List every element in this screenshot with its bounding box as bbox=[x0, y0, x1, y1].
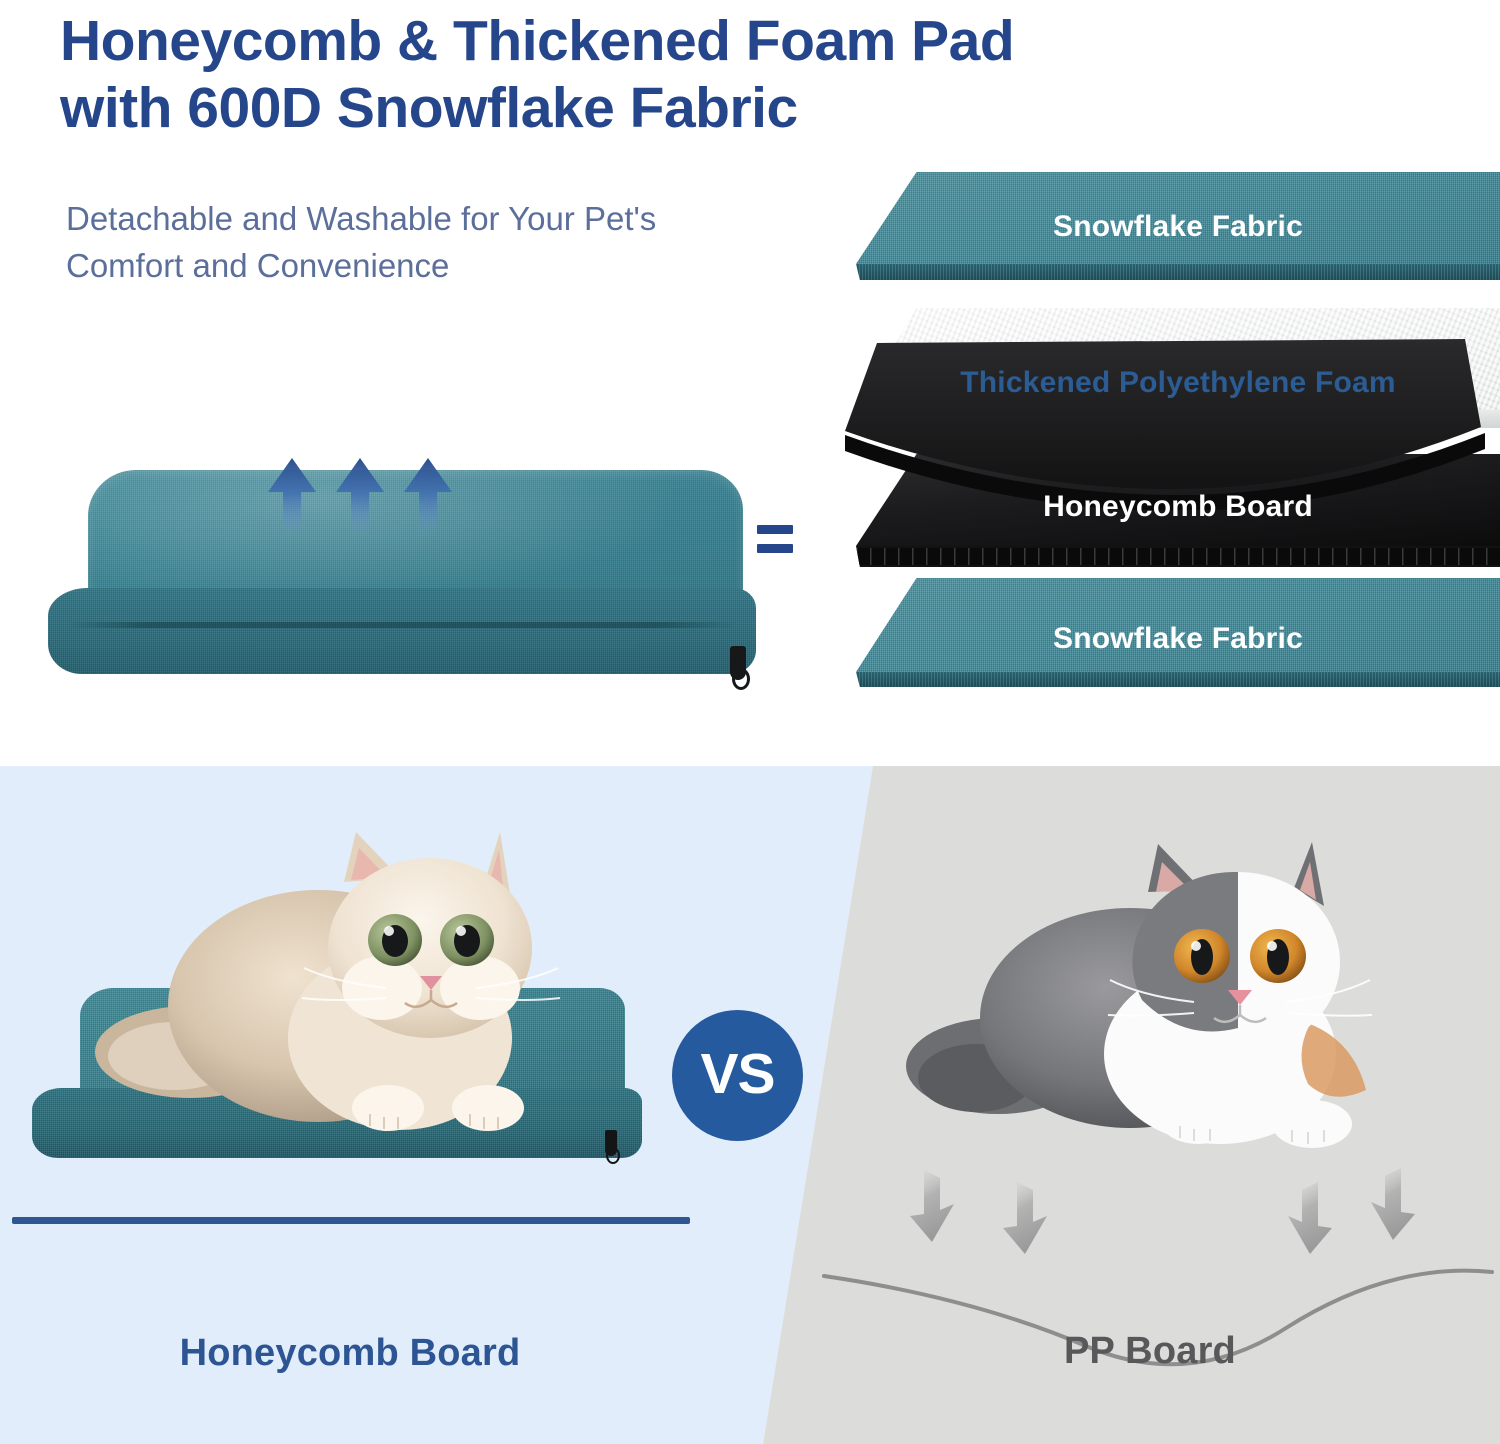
layer-edge bbox=[856, 672, 1500, 687]
equals-bar-bottom bbox=[757, 544, 793, 553]
layer-label-polyethylene-foam: Thickened Polyethylene Foam bbox=[856, 366, 1500, 400]
cat-on-honeycomb-pad-image bbox=[70, 820, 630, 1140]
product-infographic: Honeycomb & Thickened Foam Pad with 600D… bbox=[0, 0, 1500, 1444]
cat-on-pp-board-image bbox=[880, 838, 1440, 1156]
arrow-down-icon bbox=[910, 1170, 954, 1242]
pad-front-side bbox=[48, 588, 756, 674]
upward-support-arrow-icon bbox=[268, 458, 316, 536]
upward-support-arrow-icon bbox=[336, 458, 384, 536]
vs-badge: VS bbox=[672, 1010, 803, 1141]
arrow-up-icon bbox=[268, 458, 316, 536]
pp-board-illustration bbox=[845, 335, 1485, 510]
page-subtitle: Detachable and Washable for Your Pet's C… bbox=[66, 196, 926, 290]
layer-label-honeycomb-board: Honeycomb Board bbox=[856, 490, 1500, 524]
layer-edge bbox=[856, 264, 1500, 280]
downward-collapse-arrow-icon bbox=[910, 1170, 954, 1242]
flat-support-line bbox=[12, 1217, 690, 1224]
arrow-down-icon bbox=[1371, 1168, 1415, 1240]
downward-collapse-arrow-icon bbox=[1371, 1168, 1415, 1240]
layer-label-snowflake-fabric-bottom: Snowflake Fabric bbox=[856, 622, 1500, 656]
caption-honeycomb-board: Honeycomb Board bbox=[0, 1332, 700, 1375]
top-section: Honeycomb & Thickened Foam Pad with 600D… bbox=[0, 0, 1500, 766]
vs-badge-label: VS bbox=[700, 1046, 774, 1103]
zipper-pull-icon bbox=[730, 646, 746, 680]
equals-icon bbox=[757, 525, 793, 553]
pp-board-shape bbox=[845, 335, 1485, 510]
page-title: Honeycomb & Thickened Foam Pad with 600D… bbox=[60, 8, 1460, 143]
layer-edge-honeycomb-cells bbox=[856, 546, 1500, 567]
arrow-down-icon bbox=[1003, 1182, 1047, 1254]
arrow-up-icon bbox=[336, 458, 384, 536]
equals-bar-top bbox=[757, 525, 793, 534]
caption-pp-board: PP Board bbox=[800, 1330, 1500, 1373]
layer-label-snowflake-fabric-top: Snowflake Fabric bbox=[856, 210, 1500, 244]
layer-snowflake-fabric-top: Snowflake Fabric bbox=[856, 172, 1500, 288]
downward-collapse-arrow-icon bbox=[1003, 1182, 1047, 1254]
upward-support-arrow-icon bbox=[404, 458, 452, 536]
layer-snowflake-fabric-bottom: Snowflake Fabric bbox=[856, 578, 1500, 696]
pad-seam bbox=[66, 622, 738, 628]
arrow-up-icon bbox=[404, 458, 452, 536]
downward-collapse-arrow-icon bbox=[1288, 1182, 1332, 1254]
arrow-down-icon bbox=[1288, 1182, 1332, 1254]
